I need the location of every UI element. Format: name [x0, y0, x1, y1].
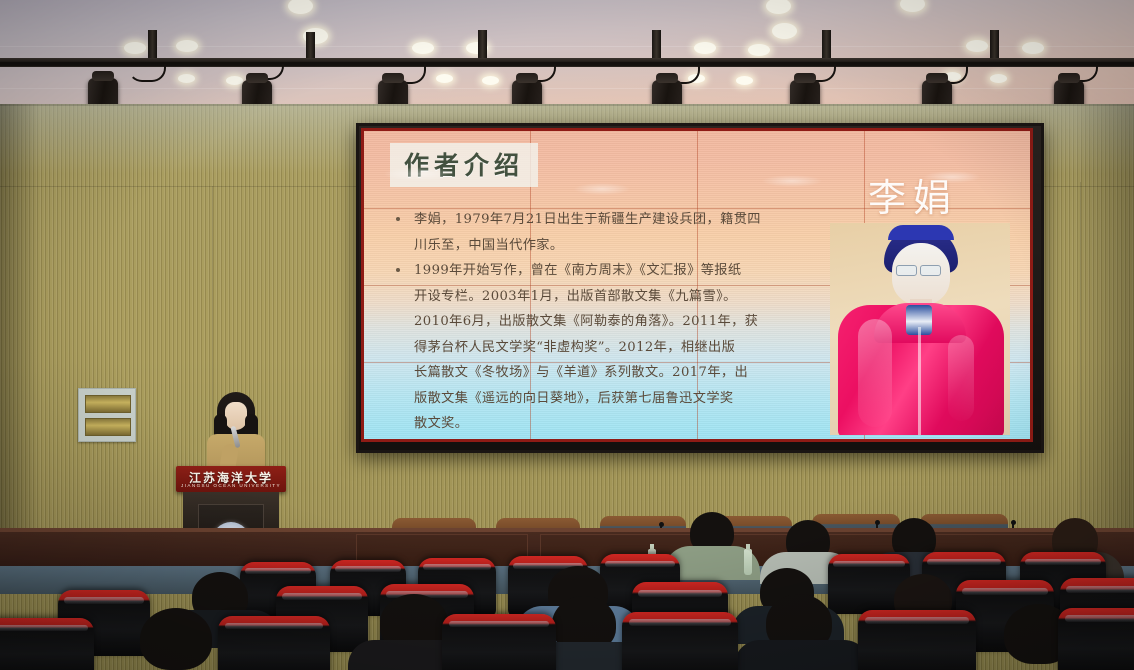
ceiling-seam [0, 88, 1134, 89]
auditorium-seat[interactable] [218, 616, 330, 670]
author-portrait-photo [830, 223, 1010, 435]
seat-rim [1066, 586, 1134, 593]
auditorium-seat[interactable] [442, 614, 556, 670]
seat-rim [638, 590, 722, 597]
portrait-headband [888, 225, 954, 240]
recessed-ceiling-light [966, 40, 988, 52]
panel-desk-edge [0, 528, 1134, 532]
presenter-with-microphone [205, 392, 267, 472]
seat-rim [64, 597, 145, 604]
seat-rim [865, 617, 969, 624]
recessed-ceiling-light [990, 74, 1007, 83]
portrait-jacket-zip [918, 327, 921, 435]
portrait-jacket-highlight [858, 319, 892, 427]
auditorium-seat[interactable] [858, 610, 976, 670]
seated-audience-member [140, 608, 212, 670]
water-bottle [744, 549, 752, 575]
seat-rim [833, 561, 905, 567]
recessed-ceiling-light [412, 42, 434, 54]
seat-rim [449, 621, 549, 627]
slide-bullet-line: 开设专栏。2003年1月，出版首部散文集《九篇雪》。 [388, 284, 818, 310]
socket-slot [85, 395, 131, 413]
slide-bullet-line: 1999年开始写作，曾在《南方周末》《文汇报》等报纸 [388, 258, 818, 284]
recessed-ceiling-light [482, 76, 499, 85]
seat-rim [225, 623, 324, 629]
ceiling-seam [0, 46, 1134, 47]
auditorium-seat[interactable] [1058, 608, 1134, 670]
portrait-glasses [896, 265, 917, 276]
screen-glare [924, 171, 980, 183]
recessed-ceiling-light [694, 42, 716, 54]
auditorium-seat[interactable] [0, 618, 94, 670]
screen-glare [574, 183, 630, 195]
seat-rim [962, 588, 1048, 595]
presenter-face [225, 402, 247, 430]
seat-rim [605, 561, 675, 567]
seat-rim [629, 619, 731, 626]
slide-bullet-line: 李娟，1979年7月21日出生于新疆生产建设兵团，籍贯四 [388, 207, 818, 233]
recessed-ceiling-light [772, 23, 797, 39]
wall-right-shadow [1074, 104, 1134, 574]
recessed-ceiling-light [178, 74, 195, 83]
recessed-ceiling-light [124, 42, 146, 54]
recessed-ceiling-light [1022, 42, 1044, 54]
recessed-ceiling-light [436, 74, 453, 83]
slide-bullet-line: 得茅台杯人民文学奖“非虚构奖”。2012年，相继出版 [388, 335, 818, 361]
seat-rim [245, 568, 312, 574]
auditorium-seat[interactable] [622, 612, 738, 670]
slide-bullet-line: 长篇散文《冬牧场》与《羊道》系列散文。2017年，出 [388, 360, 818, 386]
audience-shoulders [734, 640, 870, 670]
slide-bullet-line: 川乐至，中国当代作家。 [388, 233, 818, 259]
recessed-ceiling-light [748, 44, 770, 56]
screen-glare [762, 175, 822, 187]
seat-rim [1025, 559, 1101, 565]
socket-slot [85, 418, 131, 436]
seat-rim [927, 559, 1001, 565]
screen-glare [384, 167, 454, 181]
wall-socket-panel[interactable] [78, 388, 136, 442]
slide-bullet-line: 2010年6月，出版散文集《阿勒泰的角落》。2011年，获 [388, 309, 818, 335]
recessed-ceiling-light [176, 40, 198, 52]
portrait-jacket-highlight [948, 335, 974, 421]
wall-seam [0, 104, 1134, 106]
podium-name-en: JIANGSU OCEAN UNIVERSITY [176, 483, 286, 488]
recessed-ceiling-light [226, 76, 243, 85]
seat-rim [0, 625, 88, 631]
slide-bullet-line: 散文奖。 [388, 411, 818, 437]
lecture-hall-photo: 作者介绍 李娟 李娟，1979年7月21日出生于新疆生产建设兵团，籍贯四 川乐至… [0, 0, 1134, 670]
presentation-slide[interactable]: 作者介绍 李娟 李娟，1979年7月21日出生于新疆生产建设兵团，籍贯四 川乐至… [364, 131, 1030, 439]
slide-bullet-line: 版散文集《遥远的向日葵地》，后获第七届鲁迅文学奖 [388, 386, 818, 412]
seat-rim [423, 564, 492, 570]
recessed-ceiling-light [736, 76, 753, 85]
portrait-glasses [920, 265, 941, 276]
seat-rim [282, 593, 363, 600]
seat-rim [335, 566, 402, 572]
seat-rim [1065, 615, 1134, 622]
ceiling-shading [0, 0, 1134, 112]
slide-body-text: 李娟，1979年7月21日出生于新疆生产建设兵团，籍贯四 川乐至，中国当代作家。… [388, 207, 818, 437]
wall-left-shadow [0, 104, 40, 574]
